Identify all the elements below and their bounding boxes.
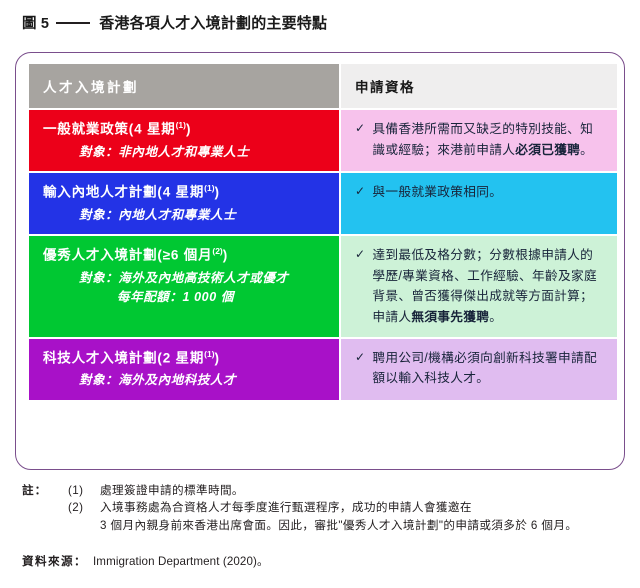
eligibility-cell: ✓聘用公司/機構必須向創新科技署申請配額以輸入科技人才。 — [341, 339, 617, 400]
eligibility-bullet: ✓具備香港所需而又缺乏的特別技能、知識或經驗；來港前申請人必須已獲聘。 — [355, 119, 605, 160]
checkmark-icon: ✓ — [355, 245, 365, 264]
scheme-name: 科技人才入境計劃(2 星期(1)) — [43, 348, 327, 369]
eligibility-text-emphasis: 無須事先獲聘 — [411, 310, 489, 324]
scheme-name-tail: ) — [223, 248, 228, 263]
scheme-cell: 輸入內地人才計劃(4 星期(1))對象：內地人才和專業人士 — [29, 173, 339, 234]
eligibility-cell: ✓與一般就業政策相同。 — [341, 173, 617, 234]
scheme-cell: 一般就業政策(4 星期(1))對象：非內地人才和專業人士 — [29, 110, 339, 171]
column-header-scheme: 人才入境計劃 — [29, 64, 339, 108]
scheme-name-tail: ) — [215, 350, 220, 365]
scheme-name: 一般就業政策(4 星期(1)) — [43, 119, 327, 140]
note-item-2: (2) 入境事務處為合資格人才每季度進行甄選程序，成功的申請人會獲邀在 — [22, 499, 626, 516]
scheme-name-text: 一般就業政策(4 星期 — [43, 122, 176, 137]
scheme-cell: 優秀人才入境計劃(≥6 個月(2))對象：海外及內地高技術人才或優才每年配額：1… — [29, 236, 339, 336]
scheme-name-text: 輸入內地人才計劃(4 星期 — [43, 185, 204, 200]
eligibility-cell: ✓具備香港所需而又缺乏的特別技能、知識或經驗；來港前申請人必須已獲聘。 — [341, 110, 617, 171]
eligibility-text-prefix: 聘用公司/機構必須向創新科技署申請配額以輸入科技人才。 — [372, 351, 597, 386]
table-header-row: 人才入境計劃 申請資格 — [29, 64, 617, 108]
scheme-footnote-marker: (1) — [176, 120, 186, 130]
note-number-2: (2) — [68, 499, 100, 516]
notes-label: 註： — [22, 482, 68, 499]
note-text-2: 入境事務處為合資格人才每季度進行甄選程序，成功的申請人會獲邀在 — [100, 499, 626, 516]
scheme-footnote-marker: (1) — [204, 349, 214, 359]
eligibility-text: 達到最低及格分數；分數根據申請人的學歷/專業資格、工作經驗、年齡及家庭背景、曾否… — [372, 245, 605, 327]
eligibility-bullet: ✓達到最低及格分數；分數根據申請人的學歷/專業資格、工作經驗、年齡及家庭背景、曾… — [355, 245, 605, 327]
eligibility-text: 與一般就業政策相同。 — [372, 182, 605, 203]
eligibility-text-emphasis: 必須已獲聘 — [515, 143, 580, 157]
eligibility-cell: ✓達到最低及格分數；分數根據申請人的學歷/專業資格、工作經驗、年齡及家庭背景、曾… — [341, 236, 617, 336]
note-text-2-continued: 3 個月內親身前來香港出席會面。因此，審批"優秀人才入境計劃"的申請或須多於 6… — [22, 517, 626, 534]
eligibility-text-suffix: 。 — [489, 310, 502, 324]
scheme-target: 對象：海外及內地高技術人才或優才 — [43, 269, 327, 288]
title-dash — [56, 22, 90, 24]
scheme-quota: 每年配額：1 000 個 — [43, 288, 327, 307]
scheme-name: 優秀人才入境計劃(≥6 個月(2)) — [43, 245, 327, 266]
scheme-target: 對象：海外及內地科技人才 — [43, 371, 327, 390]
table-row: 優秀人才入境計劃(≥6 個月(2))對象：海外及內地高技術人才或優才每年配額：1… — [29, 236, 617, 336]
scheme-cell: 科技人才入境計劃(2 星期(1))對象：海外及內地科技人才 — [29, 339, 339, 400]
scheme-target: 對象：非內地人才和專業人士 — [43, 143, 327, 162]
eligibility-bullet: ✓與一般就業政策相同。 — [355, 182, 605, 203]
eligibility-text: 聘用公司/機構必須向創新科技署申請配額以輸入科技人才。 — [372, 348, 605, 389]
figure-number: 圖 5 — [22, 12, 49, 33]
source-line: 資料來源： Immigration Department (2020)。 — [22, 553, 269, 569]
scheme-name: 輸入內地人才計劃(4 星期(1)) — [43, 182, 327, 203]
source-value: Immigration Department (2020)。 — [93, 553, 269, 569]
figure-title: 圖 5 香港各項人才入境計劃的主要特點 — [22, 12, 327, 33]
scheme-name-tail: ) — [186, 122, 191, 137]
table-row: 科技人才入境計劃(2 星期(1))對象：海外及內地科技人才✓聘用公司/機構必須向… — [29, 339, 617, 400]
scheme-footnote-marker: (1) — [204, 183, 214, 193]
checkmark-icon: ✓ — [355, 348, 365, 367]
figure-heading: 香港各項人才入境計劃的主要特點 — [99, 12, 327, 33]
note-text-1: 處理簽證申請的標準時間。 — [100, 482, 626, 499]
note-item-1: 註： (1) 處理簽證申請的標準時間。 — [22, 482, 626, 499]
note-number-1: (1) — [68, 482, 100, 499]
table-row: 輸入內地人才計劃(4 星期(1))對象：內地人才和專業人士✓與一般就業政策相同。 — [29, 173, 617, 234]
source-label: 資料來源： — [22, 553, 87, 569]
table-row: 一般就業政策(4 星期(1))對象：非內地人才和專業人士✓具備香港所需而又缺乏的… — [29, 110, 617, 171]
column-header-eligibility: 申請資格 — [341, 64, 617, 108]
eligibility-text: 具備香港所需而又缺乏的特別技能、知識或經驗；來港前申請人必須已獲聘。 — [372, 119, 605, 160]
scheme-name-text: 科技人才入境計劃(2 星期 — [43, 350, 204, 365]
checkmark-icon: ✓ — [355, 119, 365, 138]
eligibility-text-suffix: 。 — [580, 143, 593, 157]
scheme-footnote-marker: (2) — [212, 246, 222, 256]
scheme-target: 對象：內地人才和專業人士 — [43, 206, 327, 225]
scheme-name-text: 優秀人才入境計劃(≥6 個月 — [43, 248, 212, 263]
eligibility-text-prefix: 與一般就業政策相同。 — [372, 185, 502, 199]
scheme-name-tail: ) — [215, 185, 220, 200]
eligibility-bullet: ✓聘用公司/機構必須向創新科技署申請配額以輸入科技人才。 — [355, 348, 605, 389]
table-body: 人才入境計劃 申請資格 一般就業政策(4 星期(1))對象：非內地人才和專業人士… — [29, 64, 617, 400]
notes-block: 註： (1) 處理簽證申請的標準時間。 (2) 入境事務處為合資格人才每季度進行… — [22, 482, 626, 534]
checkmark-icon: ✓ — [355, 182, 365, 201]
talent-schemes-table: 人才入境計劃 申請資格 一般就業政策(4 星期(1))對象：非內地人才和專業人士… — [27, 62, 619, 402]
